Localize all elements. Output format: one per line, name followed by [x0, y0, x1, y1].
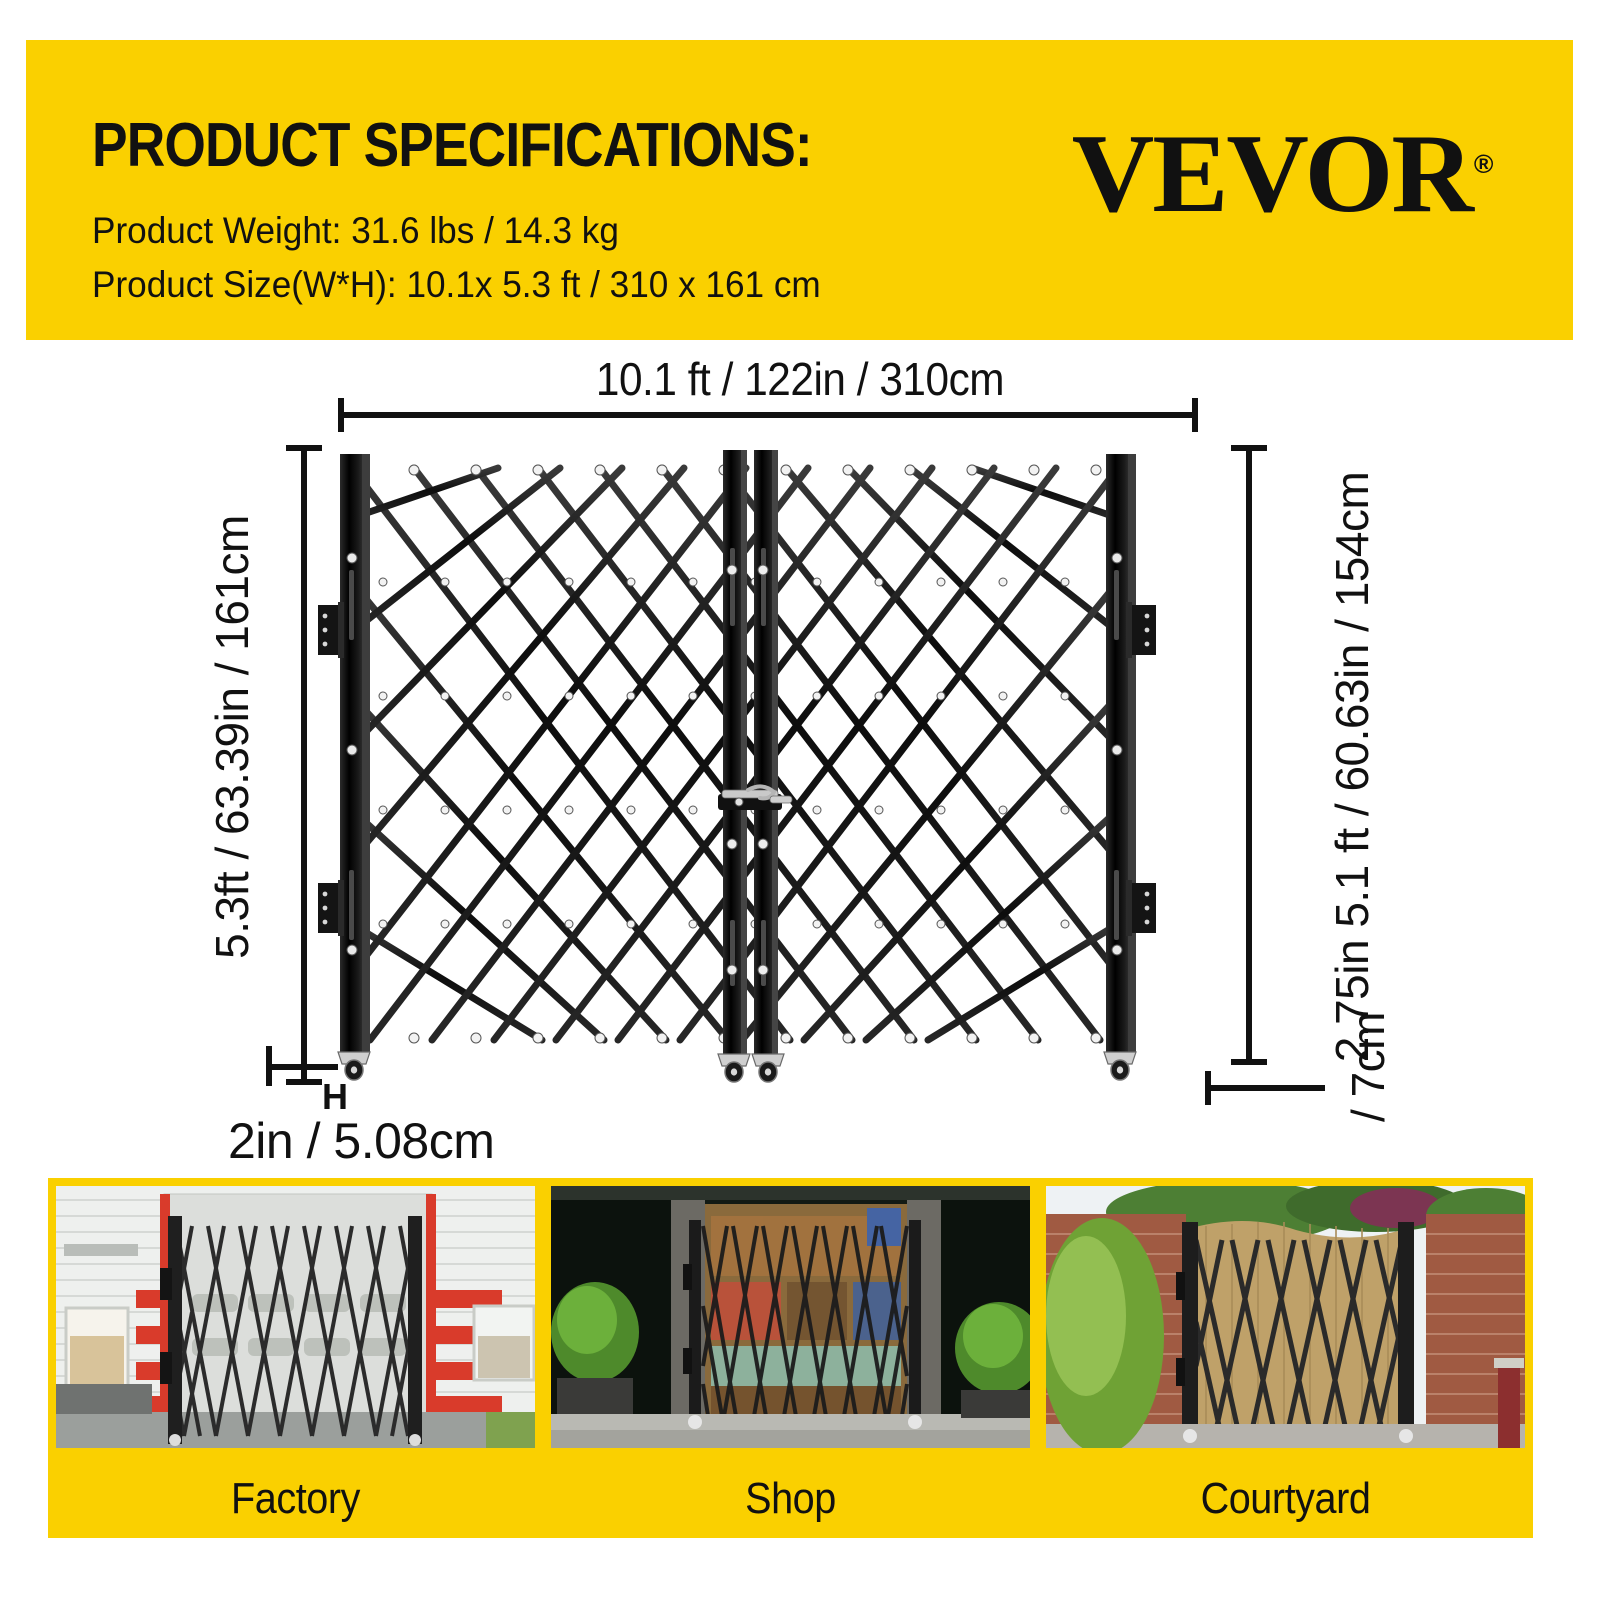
dimension-label-caster-height: / 7cm [1341, 917, 1395, 1217]
product-dimension-diagram: 10.1 ft / 122in / 310cm 5.3ft / 63.39in … [0, 340, 1600, 1170]
gate-post-center-left [723, 450, 747, 1056]
hinge-left-bottom [318, 880, 344, 936]
spec-size-line: Product Size(W*H): 10.1x 5.3 ft / 310 x … [92, 266, 821, 303]
thumbnail-photo-courtyard [1046, 1186, 1525, 1448]
folding-gate-illustration [318, 450, 1228, 1085]
caster-right [1104, 1052, 1136, 1080]
caster-center [718, 1054, 784, 1082]
thumbnail-photo-shop [551, 1186, 1030, 1448]
application-scenes: Factory [0, 1178, 1600, 1578]
dimension-line-caster-height [1205, 1085, 1325, 1091]
caster-left [338, 1052, 370, 1080]
thumbnail-caption: Factory [73, 1474, 519, 1524]
thumbnail-courtyard[interactable]: Courtyard [1038, 1178, 1533, 1538]
spec-banner: PRODUCT SPECIFICATIONS: Product Weight: … [26, 40, 1573, 340]
gate-post-right [1106, 454, 1136, 1054]
thumbnail-caption: Courtyard [1063, 1474, 1509, 1524]
registered-trademark-icon: ® [1473, 149, 1493, 179]
page-title: PRODUCT SPECIFICATIONS: [92, 115, 812, 177]
dimension-label-left-height: 5.3ft / 63.39in / 161cm [205, 457, 259, 1017]
vevor-logo: VEVOR® [1071, 118, 1493, 230]
hinge-right-bottom [1126, 880, 1156, 936]
spec-weight-line: Product Weight: 31.6 lbs / 14.3 kg [92, 212, 619, 249]
dimension-label-width: 10.1 ft / 122in / 310cm [64, 352, 1536, 406]
gate-post-center-right [754, 450, 778, 1056]
hinge-right-top [1126, 602, 1156, 658]
gate-post-left [340, 454, 370, 1054]
thumbnail-factory[interactable]: Factory [48, 1178, 543, 1538]
hinge-left-top [318, 602, 344, 658]
thumbnail-caption: Shop [568, 1474, 1014, 1524]
thumbnail-photo-factory [56, 1186, 535, 1448]
dimension-label-post-thickness: 2in / 5.08cm [228, 1112, 494, 1170]
vevor-logo-text: VEVOR [1071, 112, 1471, 236]
dimension-line-left-height [301, 445, 307, 1085]
dimension-line-right-height [1246, 445, 1252, 1065]
thumbnail-shop[interactable]: Shop [543, 1178, 1038, 1538]
dimension-line-width [338, 412, 1198, 418]
